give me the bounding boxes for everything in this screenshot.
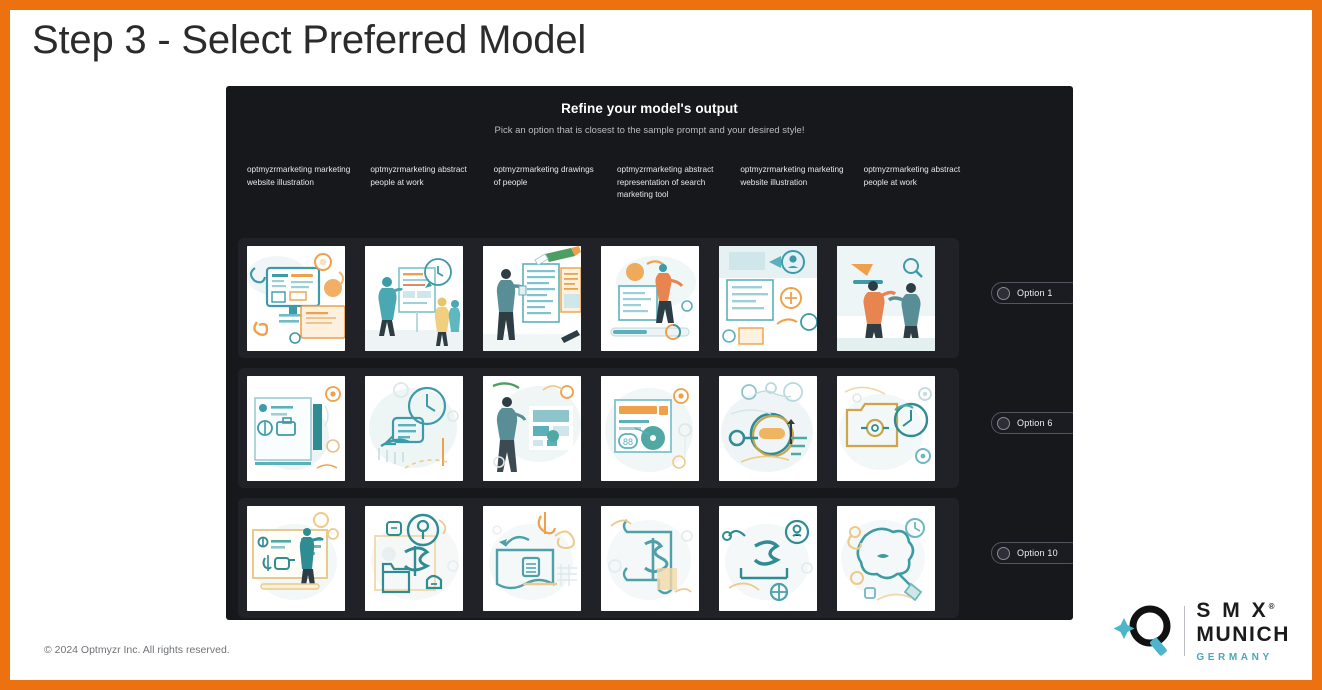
model-option-row: Option 1 (238, 238, 1073, 358)
model-thumbnail[interactable] (483, 506, 581, 611)
model-thumbnail[interactable] (601, 506, 699, 611)
model-selection-panel: Refine your model's output Pick an optio… (226, 86, 1073, 620)
prompt-caption: optmyzrmarketing marketing website illus… (247, 164, 350, 202)
option-radio-button[interactable]: Option 6 (991, 412, 1073, 434)
prompt-caption: optmyzrmarketing abstract people at work (370, 164, 473, 202)
model-thumbnail[interactable] (483, 376, 581, 481)
model-thumbnail[interactable] (837, 376, 935, 481)
copyright-notice: © 2024 Optmyzr Inc. All rights reserved. (44, 644, 230, 656)
model-thumbnail[interactable] (719, 376, 817, 481)
model-thumbnail[interactable] (365, 246, 463, 351)
logo-wordmark: S M X® MUNICH GERMANY (1196, 599, 1290, 662)
page-title: Step 3 - Select Preferred Model (32, 18, 586, 63)
prompt-caption: optmyzrmarketing abstract representation… (617, 164, 720, 202)
slide-canvas: Step 3 - Select Preferred Model Refine y… (0, 0, 1322, 690)
model-thumbnail[interactable] (837, 506, 935, 611)
option-label: Option 6 (1017, 418, 1053, 428)
model-thumbnail[interactable] (719, 246, 817, 351)
svg-text:88: 88 (623, 437, 633, 447)
radio-icon[interactable] (997, 547, 1010, 560)
logo-line-munich: MUNICH (1196, 623, 1290, 647)
logo-line-germany: GERMANY (1196, 652, 1290, 663)
option-radio-button[interactable]: Option 1 (991, 282, 1073, 304)
model-thumbnail[interactable] (365, 506, 463, 611)
option-radio-button[interactable]: Option 10 (991, 542, 1073, 564)
radio-icon[interactable] (997, 417, 1010, 430)
panel-header: Refine your model's output Pick an optio… (226, 86, 1073, 136)
model-thumbnail[interactable] (247, 506, 345, 611)
prompt-caption: optmyzrmarketing drawings of people (494, 164, 597, 202)
model-thumbnail[interactable] (719, 506, 817, 611)
model-thumbnail[interactable] (365, 376, 463, 481)
option-label: Option 10 (1017, 548, 1058, 558)
prompt-caption-row: optmyzrmarketing marketing website illus… (247, 164, 967, 202)
model-option-row: 88 (238, 368, 1073, 488)
magnifier-logo-icon (1114, 600, 1180, 662)
model-thumbnail[interactable] (837, 246, 935, 351)
logo-divider (1184, 606, 1185, 656)
panel-subtitle: Pick an option that is closest to the sa… (226, 125, 1073, 136)
model-thumbnail[interactable] (483, 246, 581, 351)
model-thumbnail[interactable]: 88 (601, 376, 699, 481)
model-option-row: Option 10 (238, 498, 1073, 618)
smx-munich-logo: S M X® MUNICH GERMANY (1114, 598, 1290, 664)
option-label: Option 1 (1017, 288, 1053, 298)
model-thumbnail[interactable] (601, 246, 699, 351)
logo-line-smx: S M X® (1196, 599, 1290, 623)
thumbnail-strip (238, 238, 959, 358)
prompt-caption: optmyzrmarketing marketing website illus… (740, 164, 843, 202)
panel-title: Refine your model's output (226, 101, 1073, 116)
model-option-rows: Option 1 (238, 238, 1073, 620)
thumbnail-strip (238, 498, 959, 618)
model-thumbnail[interactable] (247, 246, 345, 351)
thumbnail-strip: 88 (238, 368, 959, 488)
prompt-caption: optmyzrmarketing abstract people at work (864, 164, 967, 202)
model-thumbnail[interactable] (247, 376, 345, 481)
radio-icon[interactable] (997, 287, 1010, 300)
